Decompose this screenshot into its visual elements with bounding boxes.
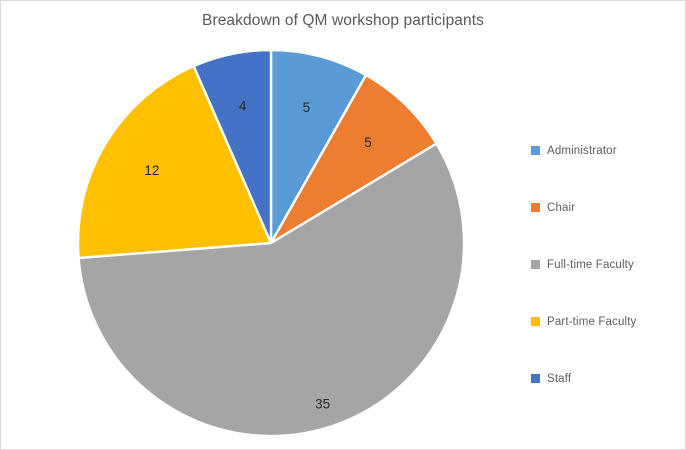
legend-swatch-icon <box>531 146 540 155</box>
legend-swatch-icon <box>531 203 540 212</box>
pie-slice-data-label: 12 <box>144 163 159 178</box>
pie-chart-plot-area[interactable]: 5535124 <box>1 31 521 449</box>
legend-item[interactable]: Part-time Faculty <box>531 293 681 350</box>
legend-item[interactable]: Chair <box>531 179 681 236</box>
legend-item-label: Part-time Faculty <box>547 316 636 328</box>
pie-slices-group[interactable] <box>78 50 464 436</box>
chart-title: Breakdown of QM workshop participants <box>1 12 685 30</box>
chart-frame: Breakdown of QM workshop participants 55… <box>0 0 686 450</box>
legend-item-label: Staff <box>547 373 571 385</box>
pie-slice-data-label: 35 <box>315 396 330 411</box>
legend-item-label: Administrator <box>547 145 617 157</box>
legend-item[interactable]: Administrator <box>531 122 681 179</box>
legend-item-label: Chair <box>547 202 575 214</box>
pie-slice-data-label: 5 <box>303 100 311 115</box>
legend-item-label: Full-time Faculty <box>547 259 634 271</box>
pie-slice-data-label: 5 <box>364 135 372 150</box>
legend-swatch-icon <box>531 374 540 383</box>
legend-swatch-icon <box>531 260 540 269</box>
legend-item[interactable]: Full-time Faculty <box>531 236 681 293</box>
legend-swatch-icon <box>531 317 540 326</box>
pie-chart-svg[interactable]: 5535124 <box>1 31 521 449</box>
legend-item[interactable]: Staff <box>531 350 681 407</box>
chart-legend[interactable]: AdministratorChairFull-time FacultyPart-… <box>531 122 681 407</box>
pie-slice-data-label: 4 <box>239 99 247 114</box>
